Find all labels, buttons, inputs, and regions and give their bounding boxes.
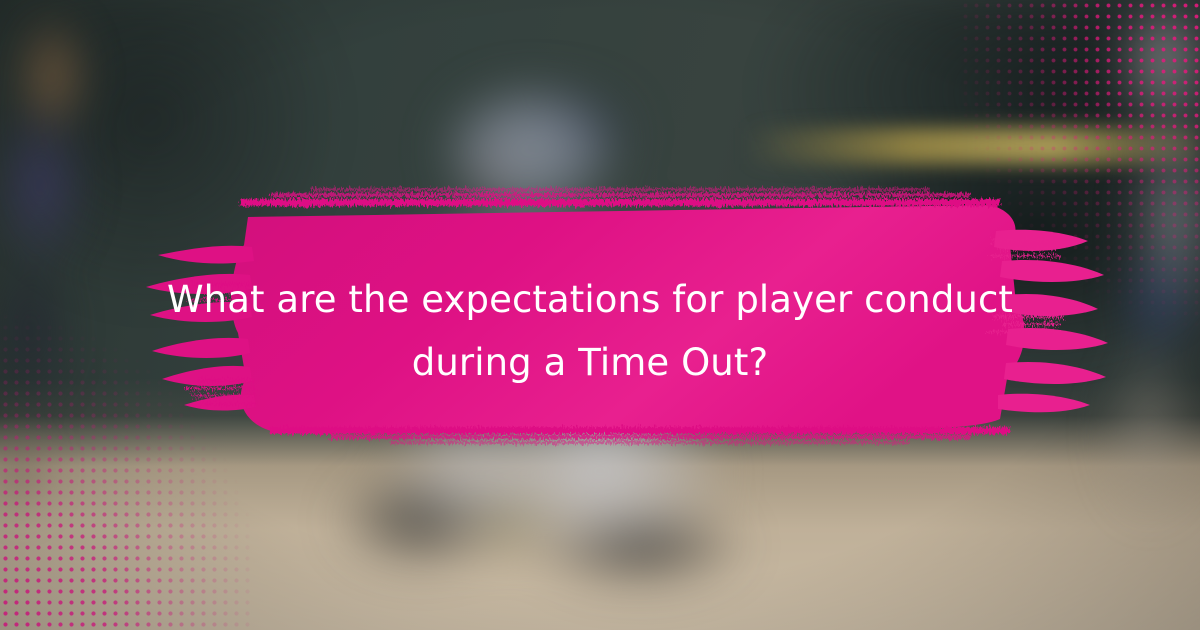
brush-bottom-edge-texture xyxy=(270,427,1010,444)
brush-top-edge-texture xyxy=(240,188,1000,206)
page-title: What are the expectations for player con… xyxy=(150,268,1030,394)
share-card-canvas: What are the expectations for player con… xyxy=(0,0,1200,630)
